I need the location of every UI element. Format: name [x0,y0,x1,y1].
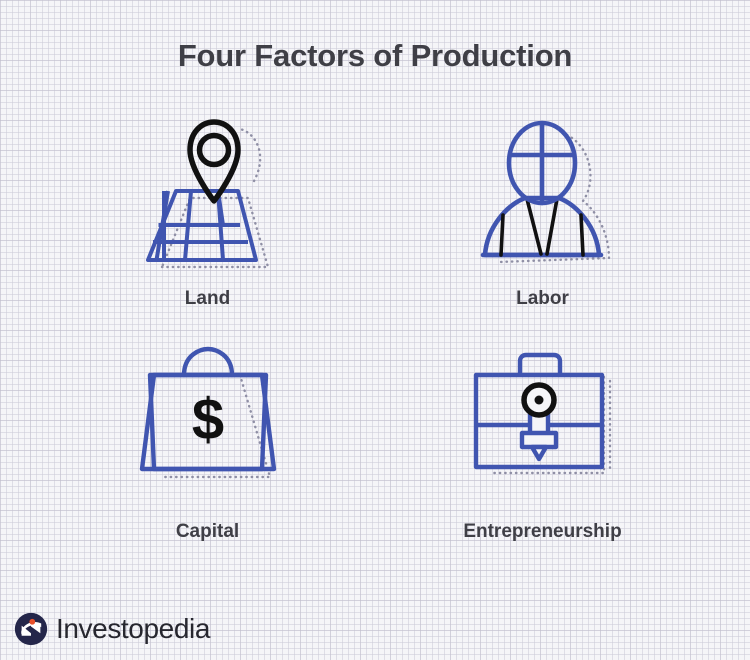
capital-icon-wrap: $ [113,344,303,499]
factor-label-entrepreneurship: Entrepreneurship [463,521,621,543]
factor-label-labor: Labor [516,288,569,310]
labor-icon-wrap [448,112,638,282]
factors-grid: Land [40,112,710,576]
factor-item-labor: Labor [375,112,710,344]
worker-person-icon [463,115,623,280]
map-pin-plot-icon [128,115,288,280]
briefcase-icon [458,347,628,497]
factor-item-land: Land [40,112,375,344]
land-plot [148,191,256,260]
investopedia-logo-text: Investopedia [56,615,210,643]
investopedia-logo-mark [14,612,48,646]
dollar-sign: $ [191,387,223,452]
infographic-canvas: Four Factors of Production [0,0,750,660]
factor-item-capital: $ Capital [40,344,375,576]
factor-label-capital: Capital [176,521,239,543]
land-icon-wrap [113,112,303,282]
briefcase-lock [524,385,554,415]
factor-label-land: Land [185,288,230,310]
entrepreneurship-icon-wrap [448,344,638,499]
bag-handle [184,349,232,375]
money-bag-icon: $ [128,347,288,497]
labor-head [509,123,575,203]
investopedia-logo[interactable]: Investopedia [14,612,210,646]
briefcase-handle [520,355,560,375]
factor-item-entrepreneurship: Entrepreneurship [375,344,710,576]
labor-clothing-lines [501,199,583,255]
page-title: Four Factors of Production [0,38,750,74]
